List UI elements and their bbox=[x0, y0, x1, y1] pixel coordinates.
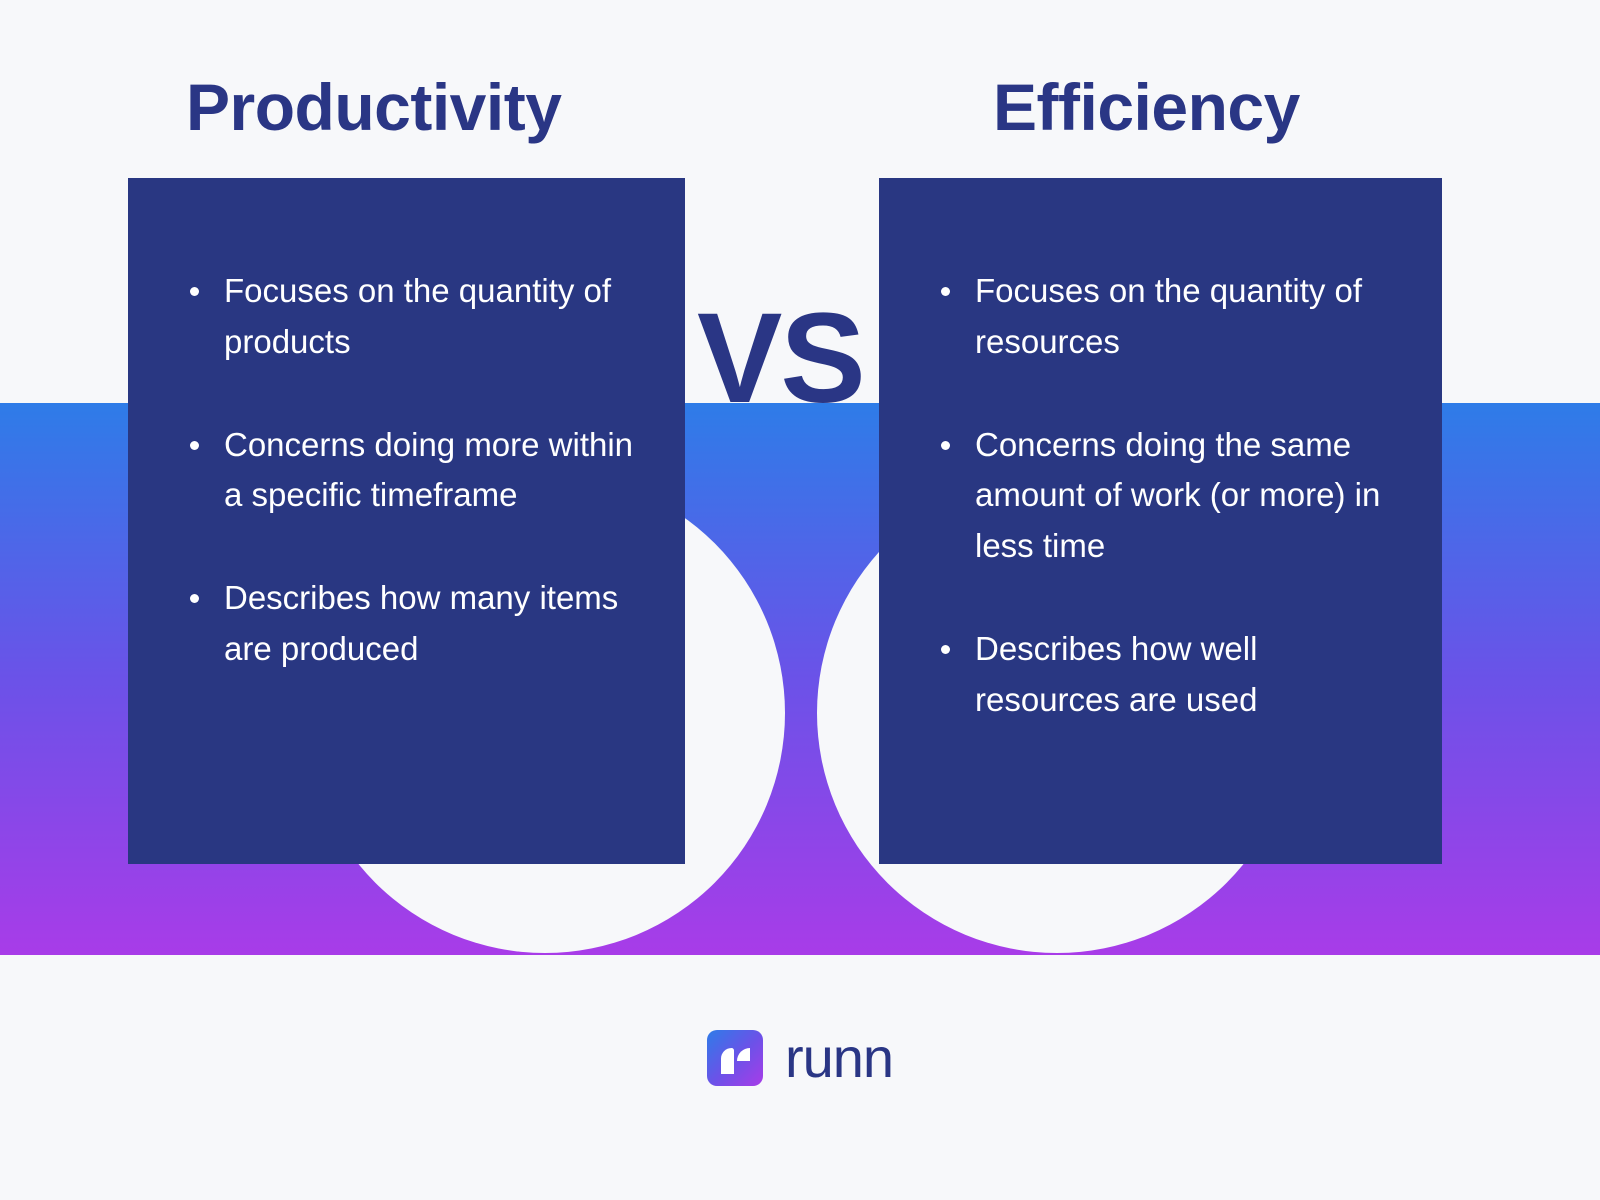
list-item: Focuses on the quantity of resources bbox=[941, 266, 1408, 368]
infographic-canvas: Productivity Efficiency Focuses on the q… bbox=[0, 0, 1600, 1200]
list-item: Concerns doing the same amount of work (… bbox=[941, 420, 1408, 572]
list-item-text: Focuses on the quantity of resources bbox=[975, 272, 1362, 360]
panel-productivity: Focuses on the quantity of products Conc… bbox=[128, 178, 685, 864]
logo-glyph-stem bbox=[721, 1048, 734, 1074]
list-item: Describes how well resources are used bbox=[941, 624, 1408, 726]
list-item: Focuses on the quantity of products bbox=[190, 266, 651, 368]
list-item: Concerns doing more within a specific ti… bbox=[190, 420, 651, 522]
list-item-text: Focuses on the quantity of products bbox=[224, 272, 611, 360]
versus-label: VS bbox=[697, 295, 864, 423]
list-item: Describes how many items are produced bbox=[190, 573, 651, 675]
runn-logo-mark-icon bbox=[707, 1030, 763, 1086]
bullet-dot-icon bbox=[190, 287, 199, 296]
brand-logo: runn bbox=[0, 1030, 1600, 1086]
column-title-efficiency: Efficiency bbox=[993, 74, 1300, 140]
list-item-text: Concerns doing the same amount of work (… bbox=[975, 426, 1380, 565]
list-item-text: Describes how well resources are used bbox=[975, 630, 1257, 718]
bullet-dot-icon bbox=[941, 287, 950, 296]
list-item-text: Concerns doing more within a specific ti… bbox=[224, 426, 633, 514]
panel-efficiency: Focuses on the quantity of resources Con… bbox=[879, 178, 1442, 864]
bullet-list-efficiency: Focuses on the quantity of resources Con… bbox=[941, 266, 1408, 726]
logo-glyph-flag bbox=[737, 1048, 750, 1061]
bullet-list-productivity: Focuses on the quantity of products Conc… bbox=[190, 266, 651, 675]
column-title-productivity: Productivity bbox=[186, 74, 561, 140]
bullet-dot-icon bbox=[941, 441, 950, 450]
bullet-dot-icon bbox=[941, 645, 950, 654]
brand-name: runn bbox=[785, 1030, 893, 1086]
bullet-dot-icon bbox=[190, 441, 199, 450]
list-item-text: Describes how many items are produced bbox=[224, 579, 618, 667]
bullet-dot-icon bbox=[190, 594, 199, 603]
